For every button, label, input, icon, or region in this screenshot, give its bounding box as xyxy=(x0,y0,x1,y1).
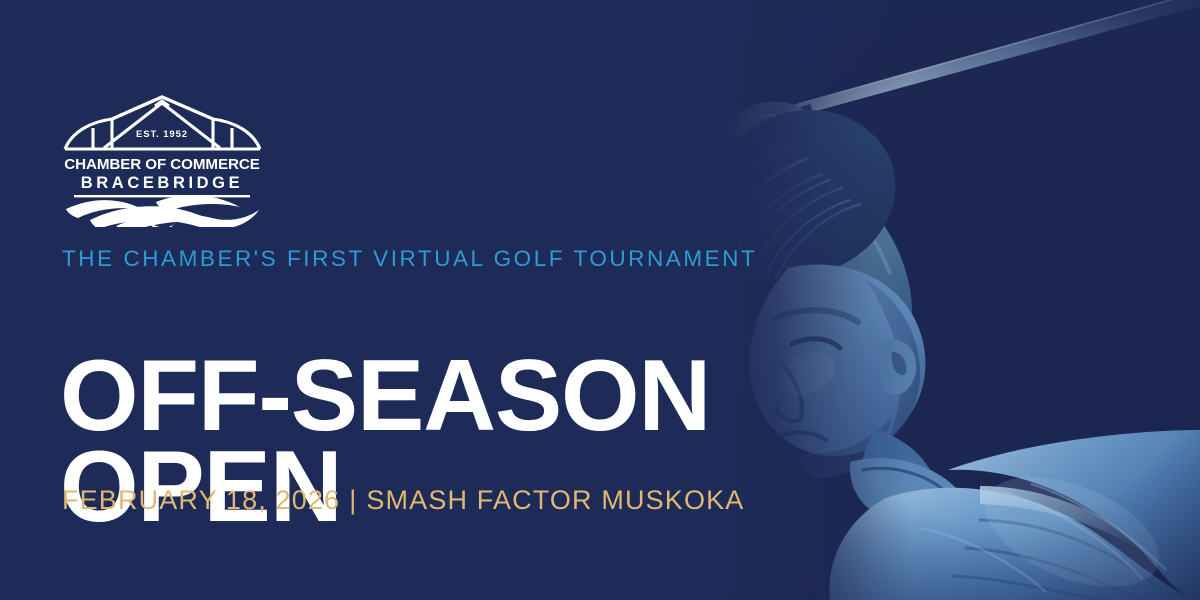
promo-banner: EST. 1952 CHAMBER OF COMMERCE BRACEBRIDG… xyxy=(0,0,1200,600)
chamber-logo: EST. 1952 CHAMBER OF COMMERCE BRACEBRIDG… xyxy=(60,92,265,227)
content-column: EST. 1952 CHAMBER OF COMMERCE BRACEBRIDG… xyxy=(0,0,780,600)
logo-name-line-2: BRACEBRIDGE xyxy=(81,174,243,192)
date-venue-line: FEBRUARY 18, 2026|SMASH FACTOR MUSKOKA xyxy=(62,487,744,514)
chamber-logo-mark: EST. 1952 CHAMBER OF COMMERCE BRACEBRIDG… xyxy=(60,92,265,227)
logo-divider-rule xyxy=(74,195,250,197)
dateline-separator: | xyxy=(340,485,366,515)
waves-icon xyxy=(66,195,259,227)
event-date: FEBRUARY 18, 2026 xyxy=(62,485,340,515)
bridge-icon xyxy=(65,97,260,149)
logo-established-label: EST. 1952 xyxy=(136,129,188,140)
logo-name-line-1: CHAMBER OF COMMERCE xyxy=(64,156,260,173)
event-venue: SMASH FACTOR MUSKOKA xyxy=(366,485,744,515)
tournament-eyebrow: THE CHAMBER'S FIRST VIRTUAL GOLF TOURNAM… xyxy=(62,248,757,271)
headline-line-1: OFF-SEASON xyxy=(60,351,710,442)
